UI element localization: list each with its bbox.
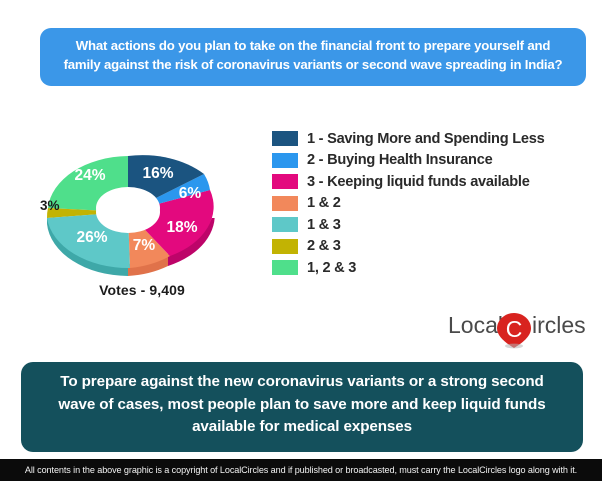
slice-value-2: 6% <box>179 185 202 202</box>
legend-item-7: 1, 2 & 3 <box>272 257 594 279</box>
legend-label-5: 1 & 3 <box>307 217 341 233</box>
copyright-text: All contents in the above graphic is a c… <box>25 465 577 475</box>
slice-value-3: 18% <box>166 219 197 236</box>
slice-value-1-and-2: 7% <box>133 237 156 254</box>
legend-item-3: 3 - Keeping liquid funds available <box>272 171 594 193</box>
legend-label-6: 2 & 3 <box>307 238 341 254</box>
slice-value-1-2-and-3: 24% <box>74 167 105 184</box>
conclusion-text: To prepare against the new coronavirus v… <box>47 371 557 439</box>
question-banner: What actions do you plan to take on the … <box>40 28 586 86</box>
question-text: What actions do you plan to take on the … <box>56 37 570 74</box>
legend-swatch-icon <box>272 131 298 146</box>
logo-pin-letter: C <box>506 316 523 342</box>
legend-label-2: 2 - Buying Health Insurance <box>307 152 492 168</box>
donut-chart-svg: 16% 6% 18% 7% 26% 3% 24% <box>18 126 266 286</box>
chart-legend: 1 - Saving More and Spending Less 2 - Bu… <box>272 128 594 279</box>
legend-swatch-icon <box>272 260 298 275</box>
legend-item-4: 1 & 2 <box>272 193 594 215</box>
slice-value-1-and-3: 26% <box>76 229 107 246</box>
legend-label-3: 3 - Keeping liquid funds available <box>307 174 530 190</box>
legend-label-7: 1, 2 & 3 <box>307 260 356 276</box>
logo-text-left: Local <box>448 312 503 338</box>
legend-swatch-icon <box>272 174 298 189</box>
legend-swatch-icon <box>272 196 298 211</box>
infographic-canvas: What actions do you plan to take on the … <box>0 0 602 481</box>
legend-swatch-icon <box>272 217 298 232</box>
legend-item-5: 1 & 3 <box>272 214 594 236</box>
legend-label-4: 1 & 2 <box>307 195 341 211</box>
total-votes-label: Votes - 9,409 <box>18 282 266 298</box>
legend-item-6: 2 & 3 <box>272 236 594 258</box>
map-pin-icon: C <box>497 313 531 348</box>
logo-text-right: ircles <box>532 312 586 338</box>
conclusion-banner: To prepare against the new coronavirus v… <box>21 362 583 452</box>
donut-hole-top <box>96 187 160 229</box>
legend-item-1: 1 - Saving More and Spending Less <box>272 128 594 150</box>
slice-value-1: 16% <box>142 165 173 182</box>
slice-value-2-and-3: 3% <box>40 198 60 213</box>
legend-swatch-icon <box>272 153 298 168</box>
copyright-bar: All contents in the above graphic is a c… <box>0 459 602 481</box>
legend-swatch-icon <box>272 239 298 254</box>
localcircles-logo: Local C ircles <box>448 307 592 349</box>
donut-chart: 16% 6% 18% 7% 26% 3% 24% Votes - 9,409 <box>18 126 266 306</box>
legend-item-2: 2 - Buying Health Insurance <box>272 150 594 172</box>
legend-label-1: 1 - Saving More and Spending Less <box>307 131 544 147</box>
